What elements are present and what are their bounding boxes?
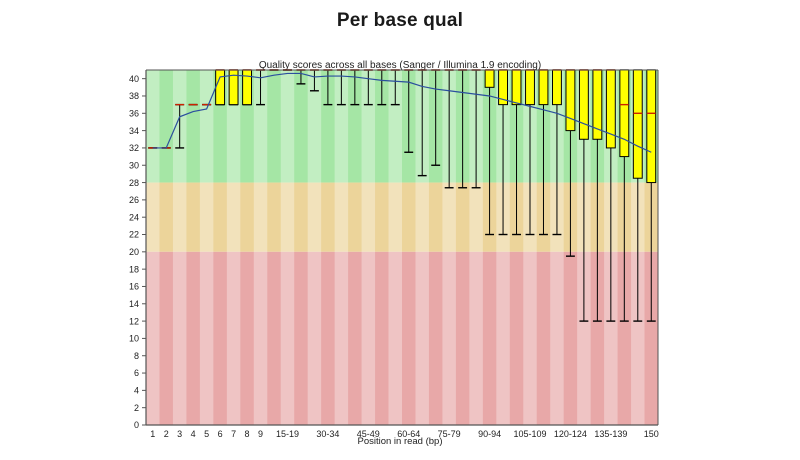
y-tick-label: 32	[129, 143, 139, 153]
y-tick-label: 6	[134, 368, 139, 378]
x-tick-label: 90-94	[478, 429, 501, 439]
x-tick-label: 75-79	[438, 429, 461, 439]
column-stripe	[146, 70, 159, 425]
column-stripe	[254, 70, 267, 425]
iqr-box	[647, 70, 656, 183]
y-tick-label: 38	[129, 91, 139, 101]
x-tick-label: 45-49	[357, 429, 380, 439]
y-tick-label: 0	[134, 420, 139, 430]
iqr-box	[579, 70, 588, 139]
column-stripe	[281, 70, 294, 425]
boxplot-box[interactable]	[243, 70, 252, 105]
x-tick-label: 3	[177, 429, 182, 439]
x-tick-label: 9	[258, 429, 263, 439]
y-tick-label: 28	[129, 178, 139, 188]
y-tick-label: 34	[129, 126, 139, 136]
x-tick-label: 60-64	[397, 429, 420, 439]
y-tick-label: 16	[129, 282, 139, 292]
iqr-box	[620, 70, 629, 157]
x-tick-label: 4	[191, 429, 196, 439]
boxplot-box[interactable]	[216, 70, 225, 105]
iqr-box	[526, 70, 535, 105]
column-stripe	[335, 70, 348, 425]
iqr-box	[243, 70, 252, 105]
x-tick-label: 1	[150, 429, 155, 439]
per-base-quality-chart: Per base qual Quality scores across all …	[0, 0, 800, 460]
plot-canvas: 0246810121416182022242628303234363840 12…	[0, 0, 800, 460]
column-stripe	[362, 70, 375, 425]
y-tick-label: 30	[129, 160, 139, 170]
x-tick-label: 6	[218, 429, 223, 439]
y-tick-label: 14	[129, 299, 139, 309]
iqr-box	[606, 70, 615, 148]
y-tick-label: 8	[134, 351, 139, 361]
x-axis-ticks: 12345678915-1930-3445-4960-6475-7990-941…	[150, 429, 659, 439]
y-tick-label: 18	[129, 264, 139, 274]
x-tick-label: 15-19	[276, 429, 299, 439]
iqr-box	[485, 70, 494, 87]
iqr-box	[539, 70, 548, 105]
iqr-box	[512, 70, 521, 105]
y-tick-label: 2	[134, 403, 139, 413]
x-tick-label: 2	[164, 429, 169, 439]
x-tick-label: 8	[245, 429, 250, 439]
column-stripe	[389, 70, 402, 425]
y-tick-label: 4	[134, 386, 139, 396]
column-stripe	[308, 70, 321, 425]
column-stripe	[200, 70, 213, 425]
y-tick-label: 10	[129, 334, 139, 344]
y-tick-label: 40	[129, 74, 139, 84]
y-tick-label: 24	[129, 212, 139, 222]
y-tick-label: 22	[129, 230, 139, 240]
y-tick-label: 12	[129, 316, 139, 326]
iqr-box	[633, 70, 642, 178]
x-tick-label: 30-34	[316, 429, 339, 439]
x-tick-label: 150	[644, 429, 659, 439]
x-tick-label: 5	[204, 429, 209, 439]
iqr-box	[566, 70, 575, 131]
y-tick-label: 26	[129, 195, 139, 205]
x-tick-label: 120-124	[554, 429, 587, 439]
y-axis-ticks: 0246810121416182022242628303234363840	[129, 74, 146, 430]
x-tick-label: 135-139	[594, 429, 627, 439]
iqr-box	[553, 70, 562, 105]
y-tick-label: 20	[129, 247, 139, 257]
x-tick-label: 7	[231, 429, 236, 439]
x-tick-label: 105-109	[513, 429, 546, 439]
column-stripe	[227, 70, 240, 425]
iqr-box	[216, 70, 225, 105]
y-tick-label: 36	[129, 108, 139, 118]
